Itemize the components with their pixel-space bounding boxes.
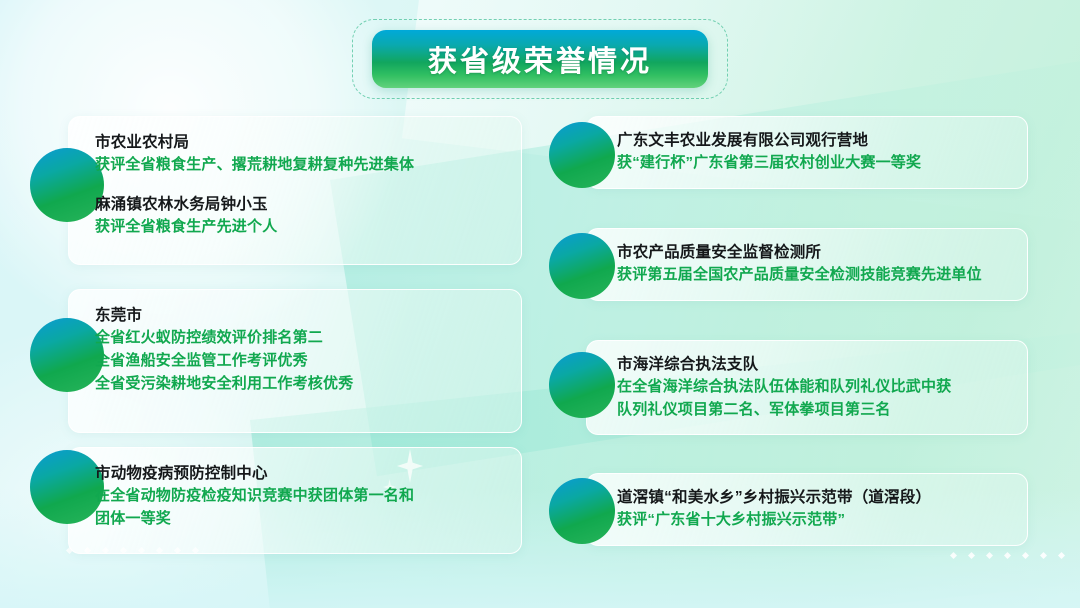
honor-line: 获评“广东省十大乡村振兴示范带” [617,509,1009,532]
honor-line: 获“建行杯”广东省第三届农村创业大赛一等奖 [617,152,1009,175]
honor-title: 市动物疫病预防控制中心 [95,462,501,485]
honor-line: 队列礼仪项目第二名、军体拳项目第三名 [617,399,1009,422]
honor-block: 道滘镇“和美水乡”乡村振兴示范带（道滘段） 获评“广东省十大乡村振兴示范带” [617,486,1009,532]
honor-title: 市海洋综合执法支队 [617,353,1009,376]
honor-title: 广东文丰农业发展有限公司观行营地 [617,129,1009,152]
honor-card[interactable]: 东莞市 全省红火蚁防控绩效评价排名第二 全省渔船安全监管工作考评优秀 全省受污染… [68,289,522,433]
honor-card[interactable]: 道滘镇“和美水乡”乡村振兴示范带（道滘段） 获评“广东省十大乡村振兴示范带” [586,473,1028,546]
diamond-dot-icon [986,552,993,559]
honor-block: 东莞市 全省红火蚁防控绩效评价排名第二 全省渔船安全监管工作考评优秀 全省受污染… [95,304,501,396]
honor-card[interactable]: 市动物疫病预防控制中心 在全省动物防疫检疫知识竞赛中获团体第一名和 团体一等奖 [68,447,522,554]
honor-block: 市农产品质量安全监督检测所 获评第五届全国农产品质量安全检测技能竞赛先进单位 [617,241,1009,287]
diamond-dot-icon [968,552,975,559]
honor-line: 在全省动物防疫检疫知识竞赛中获团体第一名和 [95,485,501,508]
honor-line: 获评全省粮食生产、撂荒耕地复耕复种先进集体 [95,154,501,177]
honor-card[interactable]: 广东文丰农业发展有限公司观行营地 获“建行杯”广东省第三届农村创业大赛一等奖 [586,116,1028,189]
honor-line: 全省渔船安全监管工作考评优秀 [95,350,501,373]
diamond-dot-icon [950,552,957,559]
diamond-dot-icon [1040,552,1047,559]
diamond-dot-icon [1004,552,1011,559]
honor-line: 在全省海洋综合执法队伍体能和队列礼仪比武中获 [617,376,1009,399]
honor-line: 全省受污染耕地安全利用工作考核优秀 [95,373,501,396]
honor-block: 市动物疫病预防控制中心 在全省动物防疫检疫知识竞赛中获团体第一名和 团体一等奖 [95,462,501,531]
honor-title: 道滘镇“和美水乡”乡村振兴示范带（道滘段） [617,486,1009,509]
honor-block: 广东文丰农业发展有限公司观行营地 获“建行杯”广东省第三届农村创业大赛一等奖 [617,129,1009,175]
diamond-dot-icon [1022,552,1029,559]
honor-line: 团体一等奖 [95,508,501,531]
honor-card[interactable]: 市农产品质量安全监督检测所 获评第五届全国农产品质量安全检测技能竞赛先进单位 [586,228,1028,301]
page-title-text: 获省级荣誉情况 [428,38,652,80]
title-banner: 获省级荣誉情况 [372,30,708,88]
honor-line: 获评第五届全国农产品质量安全检测技能竞赛先进单位 [617,264,1009,287]
honor-card[interactable]: 市农业农村局 获评全省粮食生产、撂荒耕地复耕复种先进集体 麻涌镇农林水务局钟小玉… [68,116,522,265]
slide-canvas: 获省级荣誉情况 市农业农村局 获评全省粮食生产、撂荒耕地复耕复种先进集体 麻涌镇… [0,0,1080,608]
honor-block: 市农业农村局 获评全省粮食生产、撂荒耕地复耕复种先进集体 [95,131,501,177]
honor-line: 获评全省粮食生产先进个人 [95,216,501,239]
honor-title: 市农业农村局 [95,131,501,154]
diamond-dot-icon [1058,552,1065,559]
honor-line: 全省红火蚁防控绩效评价排名第二 [95,327,501,350]
page-title: 获省级荣誉情况 [352,19,728,99]
honor-block: 麻涌镇农林水务局钟小玉 获评全省粮食生产先进个人 [95,193,501,239]
honor-title: 东莞市 [95,304,501,327]
dot-row-right [950,552,1065,559]
honor-title: 市农产品质量安全监督检测所 [617,241,1009,264]
honor-title: 麻涌镇农林水务局钟小玉 [95,193,501,216]
honor-card[interactable]: 市海洋综合执法支队 在全省海洋综合执法队伍体能和队列礼仪比武中获 队列礼仪项目第… [586,340,1028,435]
honor-block: 市海洋综合执法支队 在全省海洋综合执法队伍体能和队列礼仪比武中获 队列礼仪项目第… [617,353,1009,422]
